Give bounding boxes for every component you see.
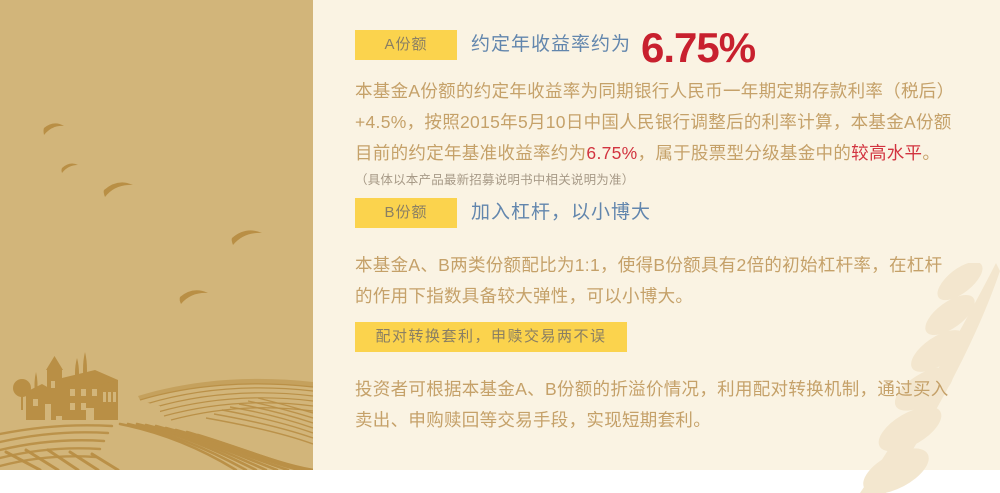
section-share-b: B份额 加入杠杆，以小博大 本基金A、B两类份额配比为1:1，使得B份额具有2倍… [355, 198, 955, 312]
village-buildings [13, 352, 118, 420]
section-share-a: A份额 约定年收益率约为 6.75% 本基金A份额的约定年收益率为同期银行人民币… [355, 30, 955, 189]
body-text: 投资者可根据本基金A、B份额的折溢价情况，利用配对转换机制，通过买入卖出、申购赎… [355, 379, 949, 430]
share-a-heading-row: A份额 约定年收益率约为 6.75% [355, 30, 955, 60]
share-a-heading-text: 约定年收益率约为 [471, 30, 631, 60]
share-b-heading-text: 加入杠杆，以小博大 [471, 198, 651, 228]
body-text: 本基金A、B两类份额配比为1:1，使得B份额具有2倍的初始杠杆率，在杠杆的作用下… [355, 255, 942, 306]
content-column: A份额 约定年收益率约为 6.75% 本基金A份额的约定年收益率为同期银行人民币… [355, 0, 975, 470]
share-b-paragraph: 本基金A、B两类份额配比为1:1，使得B份额具有2倍的初始杠杆率，在杠杆的作用下… [355, 250, 955, 312]
left-illustration-panel [0, 0, 313, 470]
share-a-note: （具体以本产品最新招募说明书中相关说明为准） [355, 171, 955, 189]
highlight-text: 较高水平 [851, 143, 922, 163]
badge-pair-convert: 配对转换套利，申赎交易两不误 [355, 322, 627, 352]
section-pair-convert: 配对转换套利，申赎交易两不误 投资者可根据本基金A、B份额的折溢价情况，利用配对… [355, 322, 955, 436]
share-a-rate-figure: 6.75% [641, 33, 755, 63]
tuscan-farmland-village-illustration [0, 0, 313, 470]
pair-convert-heading-row: 配对转换套利，申赎交易两不误 [355, 322, 955, 352]
poster-root: A份额 约定年收益率约为 6.75% 本基金A份额的约定年收益率为同期银行人民币… [0, 0, 1000, 493]
birds-group [44, 123, 263, 304]
body-text: 。 [922, 143, 940, 163]
pair-convert-paragraph: 投资者可根据本基金A、B份额的折溢价情况，利用配对转换机制，通过买入卖出、申购赎… [355, 374, 955, 436]
badge-share-a: A份额 [355, 30, 457, 60]
share-b-heading-row: B份额 加入杠杆，以小博大 [355, 198, 955, 228]
highlight-text: 6.75% [586, 143, 637, 163]
share-a-paragraph: 本基金A份额的约定年收益率为同期银行人民币一年期定期存款利率（税后）+4.5%，… [355, 76, 955, 169]
badge-share-b: B份额 [355, 198, 457, 228]
body-text: ，属于股票型分级基金中的 [638, 143, 852, 163]
